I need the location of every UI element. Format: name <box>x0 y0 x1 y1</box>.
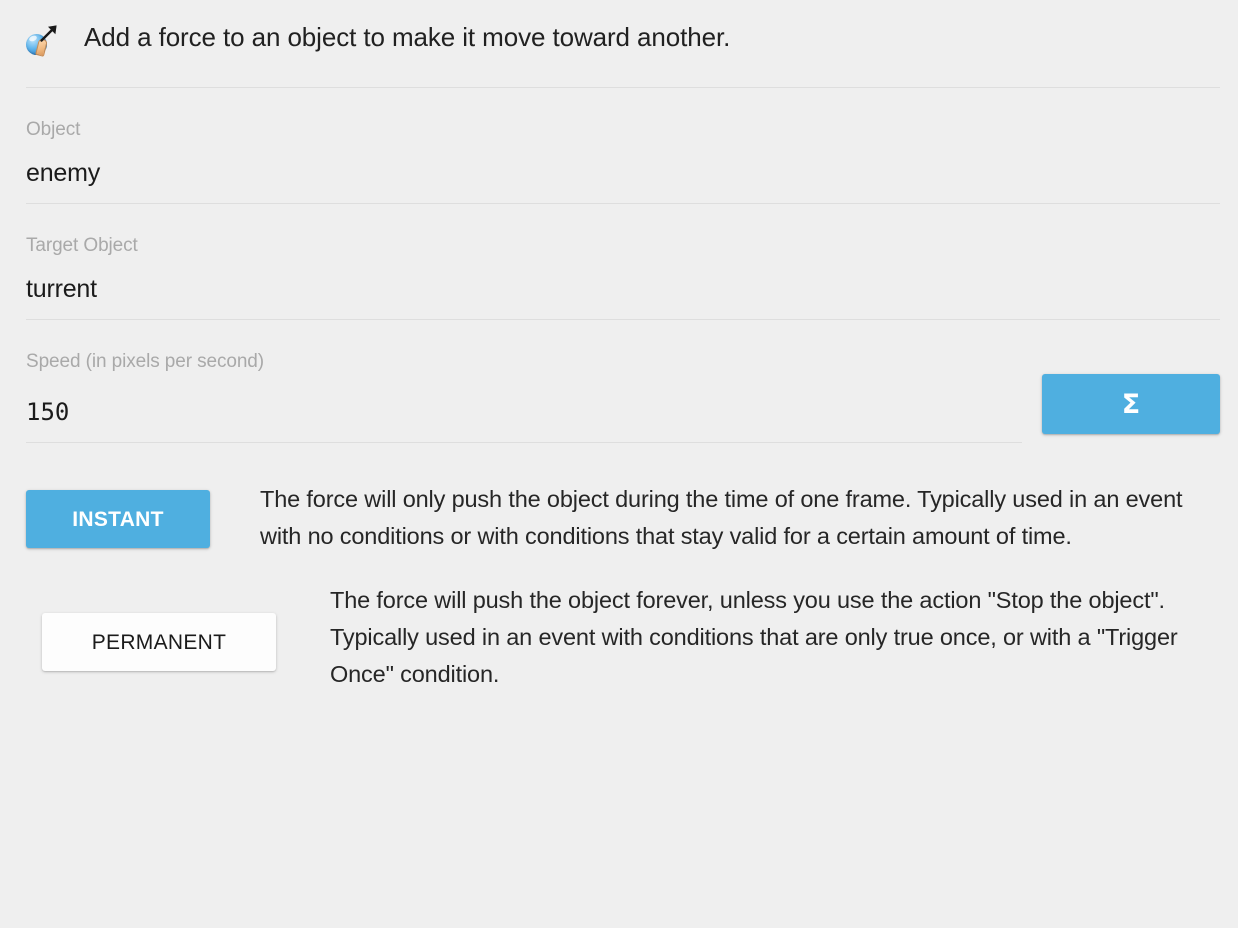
field-speed-input[interactable]: 150 <box>26 381 1022 429</box>
expression-editor-button[interactable]: Σ <box>1042 374 1220 434</box>
action-parameters-panel: Add a force to an object to make it move… <box>0 0 1238 928</box>
instant-button[interactable]: INSTANT <box>26 490 210 548</box>
option-instant: INSTANT The force will only push the obj… <box>26 490 1212 555</box>
field-target-object: Target Object turrent <box>26 234 1220 320</box>
field-object-input[interactable]: enemy <box>26 142 1220 190</box>
field-object: Object enemy <box>26 118 1220 204</box>
field-target-object-underline <box>26 319 1220 320</box>
field-speed-underline <box>26 442 1022 443</box>
field-target-object-input[interactable]: turrent <box>26 258 1220 306</box>
header-divider <box>26 87 1220 88</box>
instant-description: The force will only push the object duri… <box>260 481 1212 555</box>
field-speed-label: Speed (in pixels per second) <box>26 350 1220 374</box>
parameter-fields: Object enemy Target Object turrent Speed… <box>0 118 1238 443</box>
field-object-label: Object <box>26 118 1220 142</box>
permanent-button[interactable]: PERMANENT <box>42 613 276 671</box>
panel-header: Add a force to an object to make it move… <box>0 0 1238 58</box>
field-target-object-label: Target Object <box>26 234 1220 258</box>
field-object-underline <box>26 203 1220 204</box>
force-arrow-object-icon <box>26 22 60 56</box>
option-permanent: PERMANENT The force will push the object… <box>26 613 1212 693</box>
diagonal-arrow-glyph <box>38 22 60 44</box>
panel-title: Add a force to an object to make it move… <box>84 23 730 52</box>
field-speed: Speed (in pixels per second) 150 Σ <box>26 350 1220 443</box>
permanent-description: The force will push the object forever, … <box>330 582 1212 693</box>
force-type-options: INSTANT The force will only push the obj… <box>0 490 1238 693</box>
